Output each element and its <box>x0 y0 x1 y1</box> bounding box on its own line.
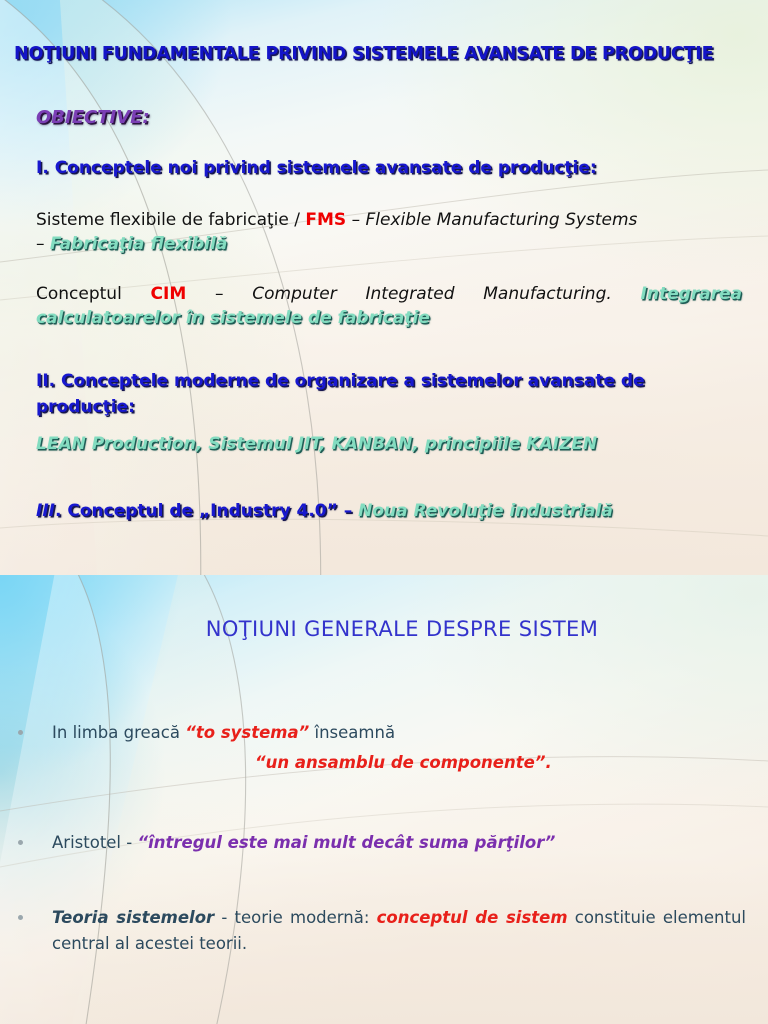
slide-2-title: NOŢIUNI GENERALE DESPRE SISTEM <box>0 617 768 641</box>
bullet-1-suffix: înseamnă <box>309 723 395 742</box>
section-3-heading-text: . Conceptul de „Industry 4.0” – <box>55 501 358 521</box>
lean-paragraph: LEAN Production, Sistemul JIT, KANBAN, p… <box>36 434 742 454</box>
section-1-heading: I. Conceptele noi privind sistemele avan… <box>36 158 597 178</box>
objectives-label: OBIECTIVE: <box>36 107 150 128</box>
bullet-dot-icon <box>18 840 23 845</box>
fms-dash: – <box>346 210 365 230</box>
bullet-1-continuation: “un ansamblu de componente”. <box>255 753 552 772</box>
slide-2-background-wash <box>0 575 768 1024</box>
list-item: Aristotel - “întregul este mai mult decâ… <box>18 830 746 856</box>
list-item: Teoria sistemelor - teorie modernă: conc… <box>18 905 746 956</box>
systems-theory-mid: - teorie modernă: <box>214 908 376 927</box>
slide-2: NOŢIUNI GENERALE DESPRE SISTEM In limba … <box>0 575 768 1024</box>
bullet-1-text: In limba greacă “to systema” înseamnă <box>18 720 746 746</box>
fms-acronym: FMS <box>305 210 346 230</box>
bullet-dot-icon <box>18 915 23 920</box>
aristotle-quote: “întregul este mai mult decât suma părţi… <box>137 833 555 852</box>
greek-term: “to systema” <box>185 723 309 742</box>
bullet-3-text: Teoria sistemelor - teorie modernă: conc… <box>18 905 746 956</box>
fms-expansion: Flexible Manufacturing Systems <box>365 210 637 230</box>
fms-paragraph: Sisteme flexibile de fabricaţie / FMS – … <box>36 208 742 256</box>
aristotle-label: Aristotel - <box>52 833 137 852</box>
bullet-dot-icon <box>18 730 23 735</box>
slide-deck: NOŢIUNI FUNDAMENTALE PRIVIND SISTEMELE A… <box>0 0 768 1024</box>
cim-paragraph: Conceptul CIM – Computer Integrated Manu… <box>36 282 742 330</box>
system-concept-highlight: conceptul de sistem <box>377 908 568 927</box>
slide-1: NOŢIUNI FUNDAMENTALE PRIVIND SISTEMELE A… <box>0 0 768 575</box>
slide-1-title: NOŢIUNI FUNDAMENTALE PRIVIND SISTEMELE A… <box>14 44 754 64</box>
bullet-1-prefix: In limba greacă <box>52 723 185 742</box>
list-item: In limba greacă “to systema” înseamnă <box>18 720 746 746</box>
cim-expansion: Computer Integrated Manufacturing. <box>252 284 612 304</box>
bullet-2-text: Aristotel - “întregul este mai mult decâ… <box>18 830 746 856</box>
section-2-heading: II. Conceptele moderne de organizare a s… <box>36 368 696 421</box>
lean-concepts-text: LEAN Production, Sistemul JIT, KANBAN, p… <box>36 434 597 454</box>
section-3-romanian-term: Noua Revoluţie industrială <box>358 501 613 521</box>
greek-translation: “un ansamblu de componente”. <box>255 753 552 772</box>
cim-dash: – <box>186 284 252 304</box>
fms-romanian-term: Fabricaţia flexibilă <box>50 234 227 254</box>
fms-line2-dash: – <box>36 234 50 254</box>
cim-acronym: CIM <box>151 284 187 304</box>
section-3-heading: III. Conceptul de „Industry 4.0” – Noua … <box>36 501 613 521</box>
fms-text-lead: Sisteme flexibile de fabricaţie / <box>36 210 305 230</box>
cim-text-lead: Conceptul <box>36 284 151 304</box>
systems-theory-term: Teoria sistemelor <box>52 908 214 927</box>
section-3-numeral: III <box>36 501 55 521</box>
